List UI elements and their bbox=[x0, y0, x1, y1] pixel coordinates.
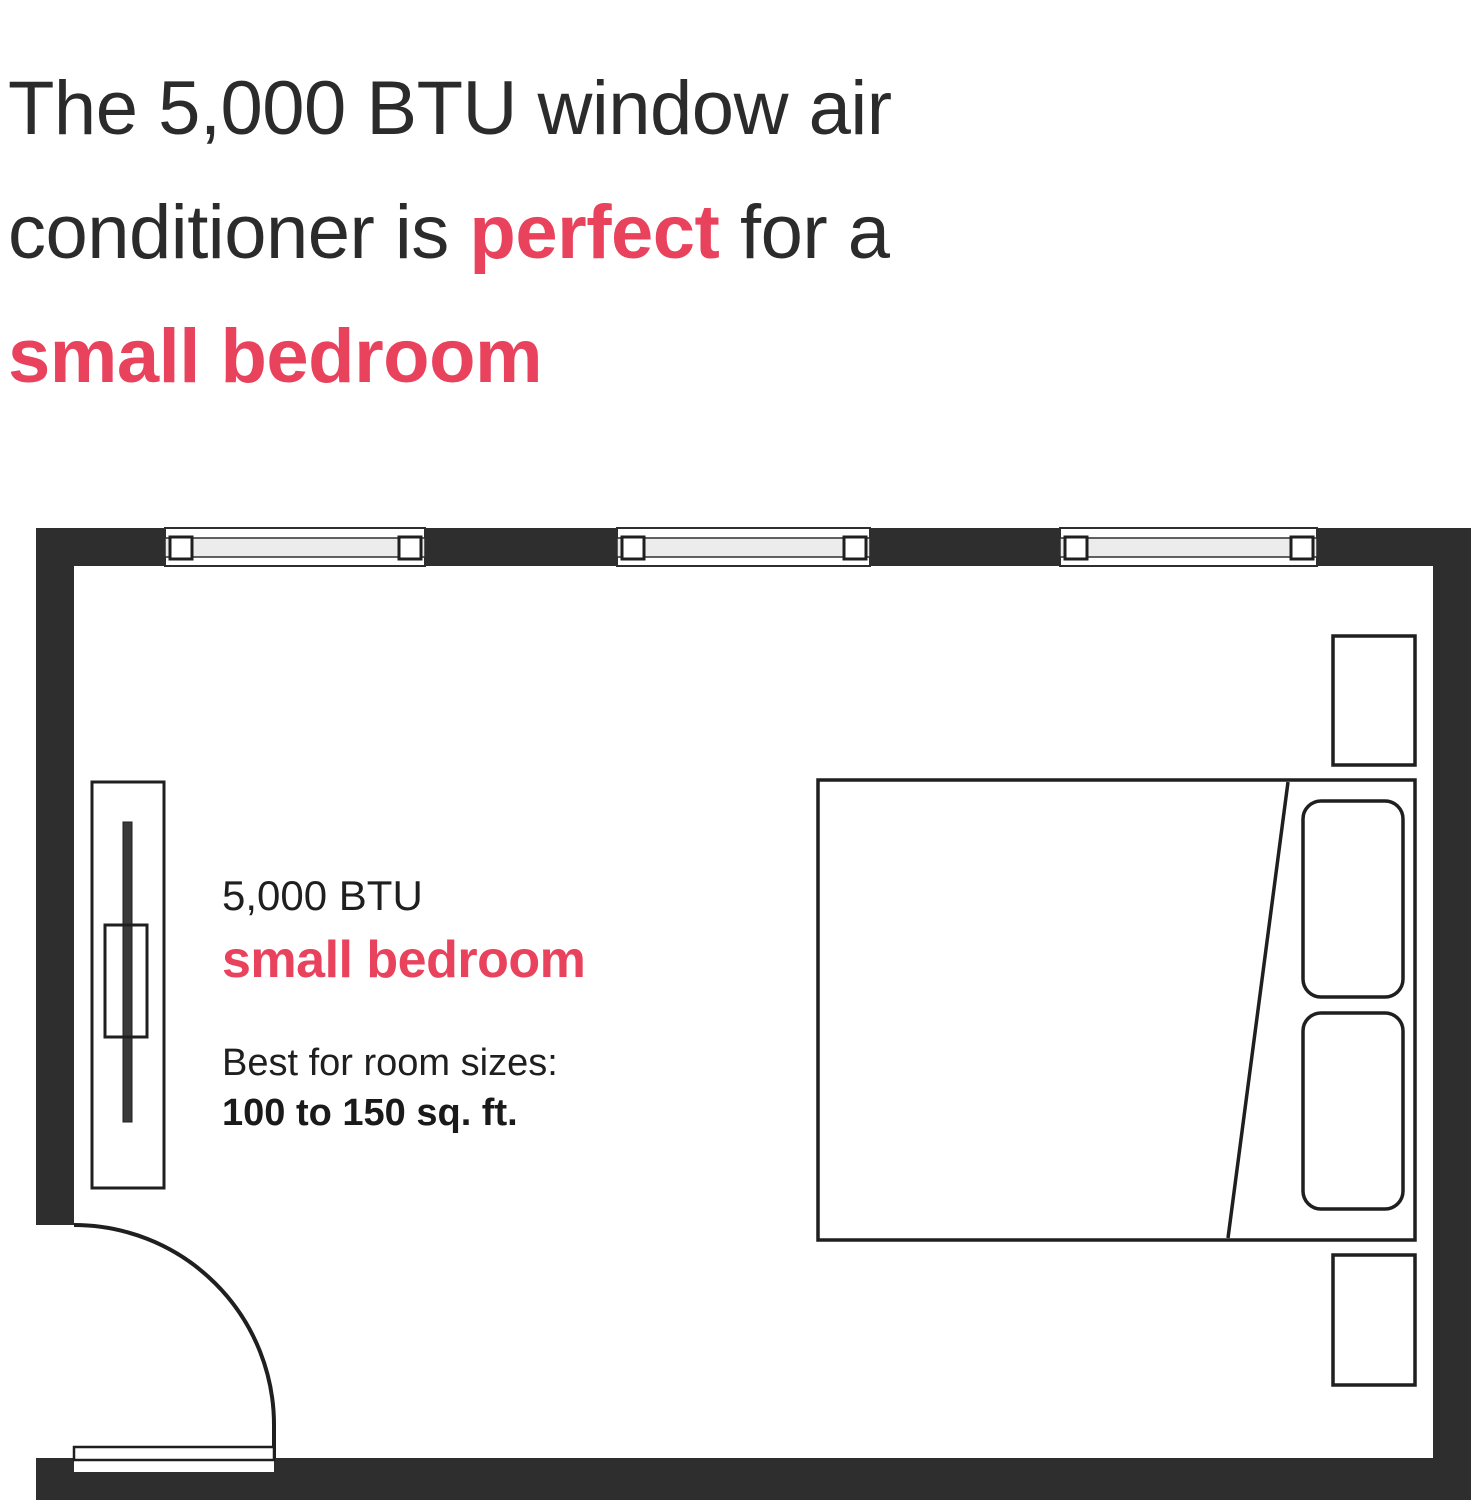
pillow-top bbox=[1303, 801, 1403, 997]
window-top-left bbox=[165, 528, 425, 566]
caption-best-label: Best for room sizes: bbox=[222, 1038, 782, 1088]
caption-btu: 5,000 BTU bbox=[222, 868, 782, 924]
window-top-right bbox=[1060, 528, 1317, 566]
window-top-center bbox=[617, 528, 870, 566]
caption-room-size: 100 to 150 sq. ft. bbox=[222, 1088, 782, 1138]
plan-caption: 5,000 BTU small bedroom Best for room si… bbox=[222, 868, 782, 1138]
nightstand-top bbox=[1333, 636, 1415, 765]
bed-queen bbox=[818, 780, 1415, 1240]
pillow-bottom bbox=[1303, 1013, 1403, 1209]
door-bottom-left bbox=[74, 1225, 274, 1460]
nightstand-bottom bbox=[1333, 1255, 1415, 1385]
windows-group bbox=[165, 528, 1317, 566]
dresser-left-wall bbox=[92, 782, 164, 1188]
caption-room-type: small bedroom bbox=[222, 926, 782, 994]
floorplan-diagram bbox=[0, 0, 1476, 1500]
infographic-page: The 5,000 BTU window air conditioner is … bbox=[0, 0, 1476, 1500]
